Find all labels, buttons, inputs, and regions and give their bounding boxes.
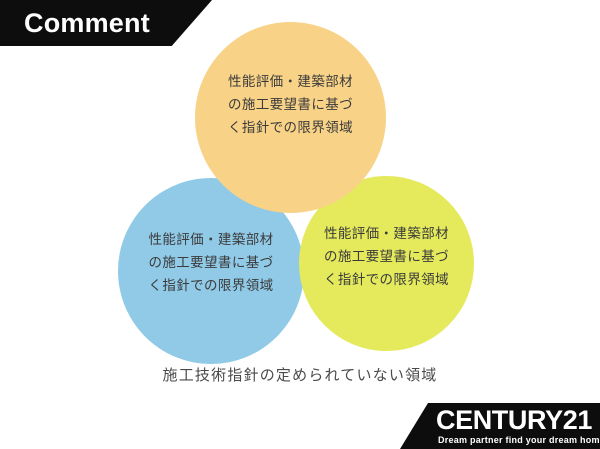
diagram-caption: 施工技術指針の定められていない領域 bbox=[0, 364, 600, 385]
venn-circle-top-label: 性能評価・建築部材 の施工要望書に基づ く指針での限界領域 bbox=[195, 70, 386, 139]
venn-circle-top: 性能評価・建築部材 の施工要望書に基づ く指針での限界領域 bbox=[195, 22, 386, 213]
slide-canvas: Comment 性能評価・建築部材 の施工要望書に基づ く指針での限界領域 性能… bbox=[0, 0, 600, 449]
century21-logo: CENTURY21 Dream partner find your dream … bbox=[400, 395, 600, 449]
logo-tagline: Dream partner find your dream home bbox=[438, 435, 600, 446]
logo-brand-name: CENTURY21 bbox=[436, 405, 596, 435]
venn-diagram: 性能評価・建築部材 の施工要望書に基づ く指針での限界領域 性能評価・建築部材 … bbox=[0, 0, 600, 400]
venn-circle-right-label: 性能評価・建築部材 の施工要望書に基づ く指針での限界領域 bbox=[299, 222, 474, 291]
venn-circle-left-label: 性能評価・建築部材 の施工要望書に基づ く指針での限界領域 bbox=[118, 228, 304, 297]
